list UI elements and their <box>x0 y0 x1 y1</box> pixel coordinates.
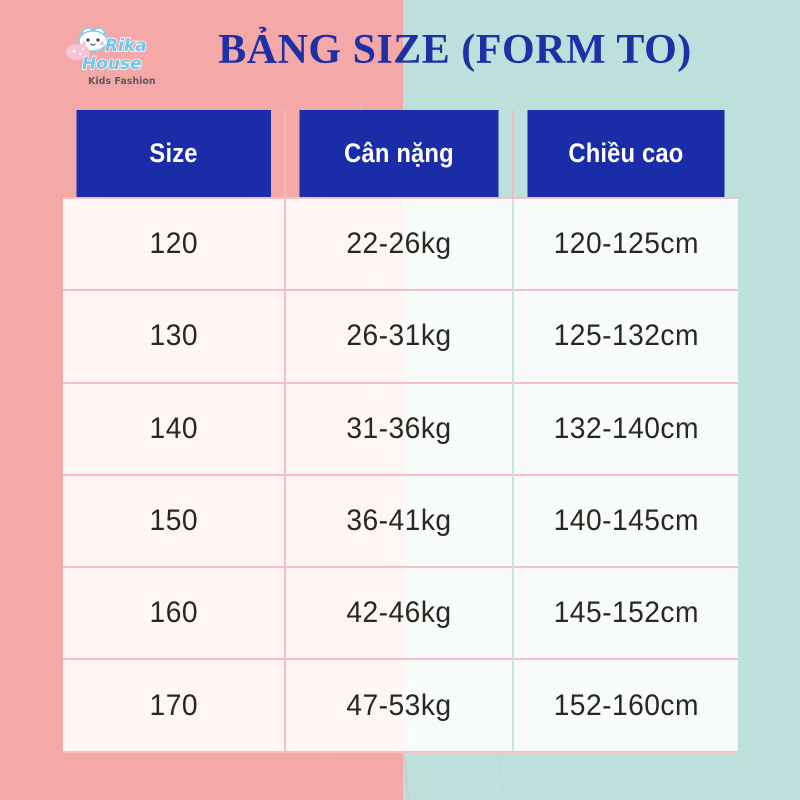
cell-height: 152-160cm <box>513 659 738 751</box>
page-header: Rika House Kids Fashion BẢNG SIZE (FORM … <box>0 0 800 110</box>
cell-weight: 22-26kg <box>285 198 513 290</box>
cell-size: 160 <box>63 567 285 659</box>
table-row: 140 31-36kg 132-140cm <box>63 383 738 475</box>
cell-size-value: 160 <box>149 596 197 630</box>
column-header-size: Size <box>76 110 271 198</box>
cell-height-value: 152-160cm <box>553 689 698 723</box>
table-row: 130 26-31kg 125-132cm <box>63 290 738 382</box>
size-chart-table: Size Cân nặng Chiều cao 120 22-26kg 120-… <box>63 110 738 753</box>
cell-height-value: 132-140cm <box>553 412 698 446</box>
cell-height-value: 120-125cm <box>553 227 698 261</box>
cell-weight-value: 31-36kg <box>346 412 451 446</box>
logo-tagline: Kids Fashion <box>88 76 156 87</box>
cell-weight: 31-36kg <box>285 383 513 475</box>
cell-weight-value: 42-46kg <box>346 596 451 630</box>
column-header-height: Chiều cao <box>527 110 725 198</box>
cell-weight-value: 22-26kg <box>346 227 451 261</box>
cell-size: 120 <box>63 198 285 290</box>
cell-weight: 42-46kg <box>285 567 513 659</box>
table-row: 150 36-41kg 140-145cm <box>63 475 738 567</box>
cell-weight-value: 36-41kg <box>346 504 451 538</box>
cell-weight: 47-53kg <box>285 659 513 751</box>
table-header-row: Size Cân nặng Chiều cao <box>63 110 738 198</box>
cell-size-value: 120 <box>149 227 197 261</box>
logo-brand-line2: House <box>82 54 142 74</box>
cell-height: 125-132cm <box>513 290 738 382</box>
cell-height-value: 125-132cm <box>553 319 698 353</box>
table-row: 120 22-26kg 120-125cm <box>63 198 738 290</box>
cell-size-value: 130 <box>149 319 197 353</box>
cell-size: 170 <box>63 659 285 751</box>
cell-height: 132-140cm <box>513 383 738 475</box>
table-row: 160 42-46kg 145-152cm <box>63 567 738 659</box>
cell-size: 130 <box>63 290 285 382</box>
page-title: BẢNG SIZE (FORM TO) <box>175 26 735 74</box>
cell-size: 150 <box>63 475 285 567</box>
cell-height: 140-145cm <box>513 475 738 567</box>
cell-weight-value: 26-31kg <box>346 319 451 353</box>
cell-weight: 36-41kg <box>285 475 513 567</box>
cell-height-value: 140-145cm <box>553 504 698 538</box>
cell-height-value: 145-152cm <box>553 596 698 630</box>
cell-weight-value: 47-53kg <box>346 689 451 723</box>
cell-weight: 26-31kg <box>285 290 513 382</box>
cell-height: 145-152cm <box>513 567 738 659</box>
cell-size-value: 170 <box>149 689 197 723</box>
cell-height: 120-125cm <box>513 198 738 290</box>
table-row: 170 47-53kg 152-160cm <box>63 659 738 751</box>
logo-brand-line1: Rika <box>105 36 147 56</box>
cell-size: 140 <box>63 383 285 475</box>
column-header-weight: Cân nặng <box>299 110 500 198</box>
cell-size-value: 140 <box>149 412 197 446</box>
cell-size-value: 150 <box>149 504 197 538</box>
brand-logo[interactable]: Rika House Kids Fashion <box>58 24 166 90</box>
